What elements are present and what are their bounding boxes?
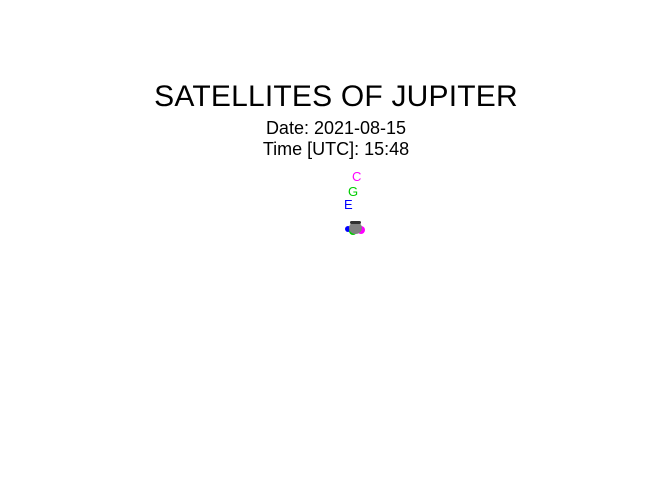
planet-band-jupiter: [350, 221, 361, 224]
moon-label-callisto: C: [352, 170, 361, 183]
sky-plot-area: CGE: [0, 0, 672, 480]
moon-label-europa: E: [344, 198, 353, 211]
jupiter-satellites-canvas: SATELLITES OF JUPITER Date: 2021-08-15 T…: [0, 0, 672, 480]
